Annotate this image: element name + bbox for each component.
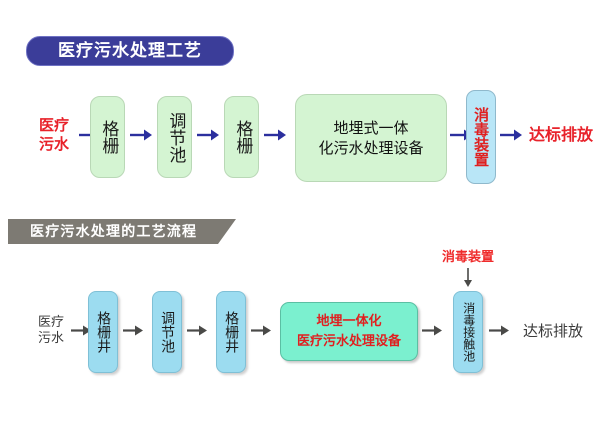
section2-node-disinfection-contact-tank[interactable]: 消毒接触池: [453, 291, 483, 373]
section1-node-buried-equipment-line2: 化污水处理设备: [318, 138, 423, 158]
section2-arrow-4: [421, 323, 443, 338]
section2-arrow-3: [250, 323, 272, 338]
section2-title-text: 医疗污水处理的工艺流程: [8, 225, 197, 239]
section2-node-buried-equipment-line2: 医疗污水处理设备: [297, 332, 401, 352]
section2-node-equalization-tank-label: 调节池: [158, 311, 176, 353]
section2-inlet-label-line2: 污水: [38, 331, 64, 347]
section1-node-grille-2[interactable]: 格栅: [224, 96, 259, 178]
section1-arrow-5: [499, 127, 523, 143]
section1-arrow-2: [196, 127, 220, 143]
section2-arrow-2: [186, 323, 208, 338]
section1-node-equalization-tank[interactable]: 调节池: [157, 96, 192, 178]
section2-outlet-label: 达标排放: [516, 320, 590, 342]
section1-arrow-3: [263, 127, 287, 143]
section1-inlet-label-line1: 医疗: [39, 116, 69, 135]
section1-inlet-label: 医疗 污水: [28, 112, 80, 158]
section1-node-grille-label: 格栅: [97, 120, 119, 154]
section1-node-grille[interactable]: 格栅: [90, 96, 125, 178]
section2-node-grille-well-2-label: 格栅井: [222, 311, 240, 353]
section1-node-grille-2-label: 格栅: [231, 120, 253, 154]
section2-inlet-label: 医疗 污水: [30, 311, 72, 351]
section1-node-equalization-tank-label: 调节池: [164, 112, 186, 163]
section1-title-text: 医疗污水处理工艺: [58, 43, 202, 60]
section2-arrow-1: [122, 323, 144, 338]
section1-outlet-label: 达标排放: [524, 123, 598, 147]
section2-node-buried-equipment-line1: 地埋一体化: [297, 312, 401, 332]
section2-node-grille-well-2[interactable]: 格栅井: [216, 291, 246, 373]
section2-node-equalization-tank[interactable]: 调节池: [152, 291, 182, 373]
section2-arrow-annotation-down: [461, 268, 475, 288]
section2-title-banner: 医疗污水处理的工艺流程: [8, 219, 236, 244]
section1-arrow-1: [129, 127, 153, 143]
section2-node-grille-well-label: 格栅井: [94, 311, 112, 353]
section2-node-grille-well[interactable]: 格栅井: [88, 291, 118, 373]
section1-node-buried-equipment[interactable]: 地埋式一体 化污水处理设备: [295, 94, 447, 182]
section1-inlet-label-line2: 污水: [39, 135, 69, 154]
section1-node-buried-equipment-line1: 地埋式一体: [318, 118, 423, 138]
section2-node-disinfection-contact-tank-label: 消毒接触池: [460, 302, 476, 362]
diagram-canvas: 医疗污水处理工艺 医疗 污水 格栅 调节池 格栅 地埋式一体: [0, 0, 600, 430]
section2-inlet-label-line1: 医疗: [38, 315, 64, 331]
section1-title-banner: 医疗污水处理工艺: [26, 36, 234, 66]
section1-node-disinfection-device[interactable]: 消毒装置: [466, 90, 496, 184]
section1-node-disinfection-device-label: 消毒装置: [472, 107, 490, 167]
section2-node-buried-equipment[interactable]: 地埋一体化 医疗污水处理设备: [280, 302, 418, 361]
section2-annotation-label: 消毒装置: [430, 249, 506, 267]
section2-arrow-5: [488, 323, 510, 338]
